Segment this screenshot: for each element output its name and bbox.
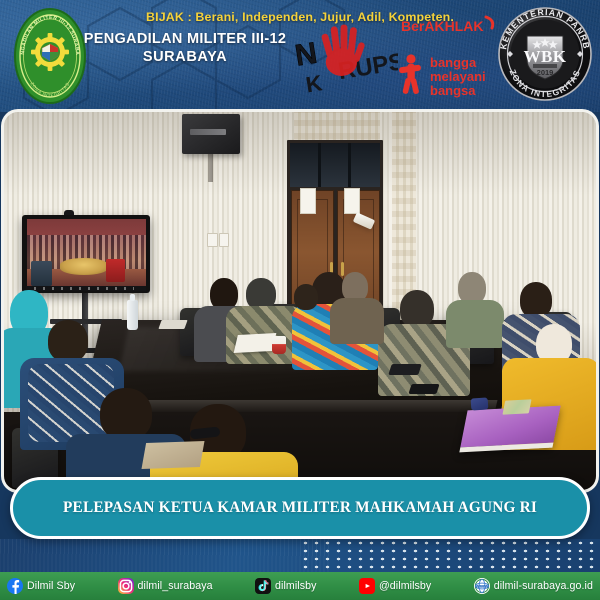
screen-red-banner xyxy=(106,259,125,282)
berakhlak-logo: BerAKHLAK bangga melayani bangsa xyxy=(398,12,498,102)
svg-text:K: K xyxy=(304,70,324,97)
berakhlak-wordmark: BerAKHLAK xyxy=(400,14,496,40)
cup-on-table xyxy=(272,336,286,354)
paper-on-table xyxy=(234,333,277,353)
org-name-line1: PENGADILAN MILITER III-12 xyxy=(80,30,290,48)
instagram-handle: dilmil_surabaya xyxy=(138,580,213,592)
flat-screen-tv xyxy=(22,215,150,293)
device-on-table xyxy=(158,320,187,329)
tiktok-handle: dilmilsby xyxy=(275,580,317,592)
tagline-texture xyxy=(0,539,330,572)
notebook-on-table xyxy=(141,441,204,469)
poster-card: PENGADILAN MILITER III-12 SURABAYA ZONA … xyxy=(0,0,600,600)
transom-mullion-1 xyxy=(318,143,321,187)
wbk-year: 2019 xyxy=(537,68,554,77)
screen-podium xyxy=(31,261,52,286)
folder-clip xyxy=(471,397,489,410)
caption-banner: PELEPASAN KETUA KAMAR MILITER MAHKAMAH A… xyxy=(10,477,590,539)
speaker-grill xyxy=(190,129,226,135)
social-item-instagram[interactable]: dilmil_surabaya xyxy=(118,578,213,594)
speaker-bracket xyxy=(208,154,213,182)
screen-gold-table xyxy=(60,258,108,275)
instagram-icon[interactable] xyxy=(118,578,134,594)
polka-dot-pattern xyxy=(300,539,600,572)
berakhlak-title-text: BerAKHLAK xyxy=(401,18,483,34)
court-seal-icon: PENGADILAN MILITER III-12 SURABAYA ZONA … xyxy=(12,6,88,106)
facebook-icon[interactable] xyxy=(7,578,23,594)
bangga-line2: melayani xyxy=(430,69,486,84)
bangga-line3: bangsa xyxy=(430,83,476,98)
svg-text:www: www xyxy=(474,584,489,590)
social-item-tiktok[interactable]: dilmilsby xyxy=(255,578,317,594)
hand-sanitizer-bottle xyxy=(127,300,138,330)
video-conference-screen xyxy=(27,219,146,286)
tagline-band xyxy=(0,539,600,572)
door-notice-left xyxy=(300,188,316,214)
phone-on-table xyxy=(388,364,422,375)
wall-switch-2 xyxy=(219,233,229,247)
youtube-handle: @dilmilsby xyxy=(379,580,431,592)
website-url: dilmil-surabaya.go.id xyxy=(494,580,593,592)
no-korupsi-icon: N K RUPSI K xyxy=(294,14,398,98)
door-notice-right xyxy=(344,188,360,214)
phone-on-table xyxy=(408,384,439,394)
website-icon[interactable]: www xyxy=(474,578,490,594)
social-media-footer: Dilmil Sby dilmil_surabaya dilmilsby xyxy=(0,572,600,600)
svg-text:WBK: WBK xyxy=(524,47,567,66)
page-title: PENGADILAN MILITER III-12 SURABAYA xyxy=(80,30,290,68)
caption-text: PELEPASAN KETUA KAMAR MILITER MAHKAMAH A… xyxy=(63,499,537,517)
facebook-handle: Dilmil Sby xyxy=(27,580,75,592)
svg-text:N: N xyxy=(294,37,319,73)
bangga-line1: bangga xyxy=(430,55,477,70)
wbk-zona-integritas-icon: KEMENTERIAN PANRB ZONA INTEGRITAS WBK 20… xyxy=(497,6,593,102)
social-item-facebook[interactable]: Dilmil Sby xyxy=(7,578,75,594)
ceiling-speaker-icon xyxy=(182,114,240,154)
door-handle-right xyxy=(341,262,344,276)
tv-toolbar-dots xyxy=(34,287,134,290)
wall-switch-1 xyxy=(207,233,218,247)
event-photo xyxy=(4,112,596,490)
youtube-icon[interactable] xyxy=(359,578,375,594)
meeting-room-scene xyxy=(4,112,596,490)
bangga-melayani-bangsa: bangga melayani bangsa xyxy=(398,50,498,100)
social-item-youtube[interactable]: @dilmilsby xyxy=(359,578,431,594)
org-name-line2: SURABAYA xyxy=(80,48,290,68)
door-transom-glass xyxy=(290,143,380,187)
transom-mullion-2 xyxy=(348,143,351,187)
papers-on-folder xyxy=(502,399,531,414)
social-item-website[interactable]: www dilmil-surabaya.go.id xyxy=(474,578,593,594)
tiktok-icon[interactable] xyxy=(255,578,271,594)
